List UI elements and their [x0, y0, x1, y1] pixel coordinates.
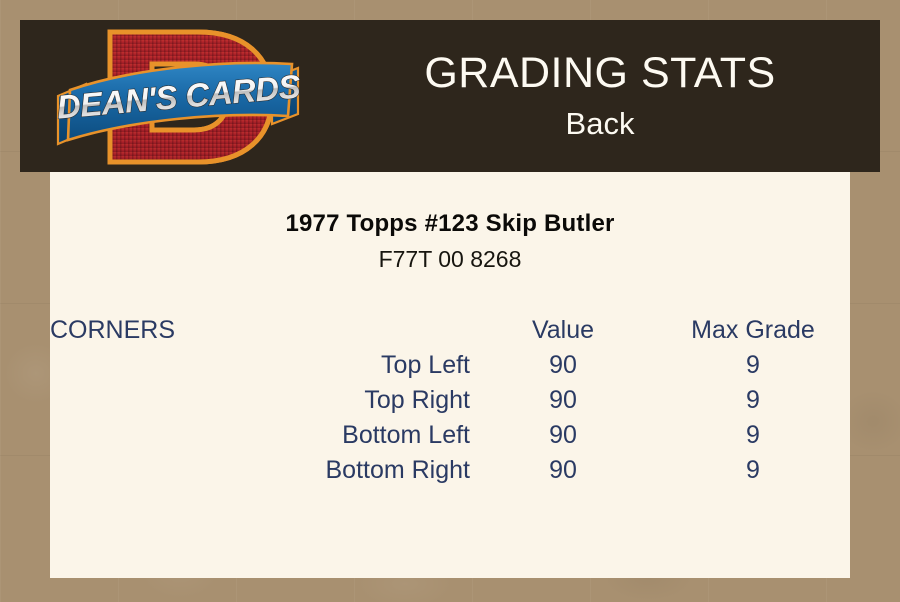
- page-subtitle: Back: [566, 104, 635, 144]
- column-header-value: Value: [470, 312, 656, 348]
- row-value-bottom-right: 90: [470, 453, 656, 488]
- grading-stats-screen: DEAN'S CARDS GRADING STATS Back 1977 Top…: [0, 0, 900, 602]
- row-value-bottom-left: 90: [470, 418, 656, 453]
- row-label-top-right: Top Right: [50, 383, 470, 418]
- page-title: GRADING STATS: [424, 48, 775, 98]
- stats-table-body: Top Left 90 9 Top Right 90 9 Bottom Left…: [50, 348, 850, 488]
- table-row: Bottom Right 90 9: [50, 453, 850, 488]
- content-panel: 1977 Topps #123 Skip Butler F77T 00 8268…: [50, 172, 850, 578]
- stats-header-row: CORNERS Value Max Grade: [50, 312, 850, 348]
- row-max-grade-bottom-right: 9: [656, 453, 850, 488]
- table-row: Bottom Left 90 9: [50, 418, 850, 453]
- row-label-bottom-right: Bottom Right: [50, 453, 470, 488]
- table-row: Top Left 90 9: [50, 348, 850, 383]
- card-heading: 1977 Topps #123 Skip Butler: [50, 210, 850, 238]
- row-max-grade-top-right: 9: [656, 383, 850, 418]
- row-max-grade-top-left: 9: [656, 348, 850, 383]
- deans-cards-logo[interactable]: DEAN'S CARDS: [48, 24, 310, 170]
- row-label-top-left: Top Left: [50, 348, 470, 383]
- row-max-grade-bottom-left: 9: [656, 418, 850, 453]
- stats-table-head: CORNERS Value Max Grade: [50, 312, 850, 348]
- header-bar: DEAN'S CARDS GRADING STATS Back: [20, 20, 880, 172]
- row-value-top-left: 90: [470, 348, 656, 383]
- row-value-top-right: 90: [470, 383, 656, 418]
- card-serial-number: F77T 00 8268: [50, 246, 850, 273]
- section-label-corners: CORNERS: [50, 312, 470, 348]
- grading-stats-table: CORNERS Value Max Grade Top Left 90 9 To…: [50, 312, 850, 488]
- table-row: Top Right 90 9: [50, 383, 850, 418]
- column-header-max-grade: Max Grade: [656, 312, 850, 348]
- row-label-bottom-left: Bottom Left: [50, 418, 470, 453]
- header-title-group: GRADING STATS Back: [320, 20, 880, 172]
